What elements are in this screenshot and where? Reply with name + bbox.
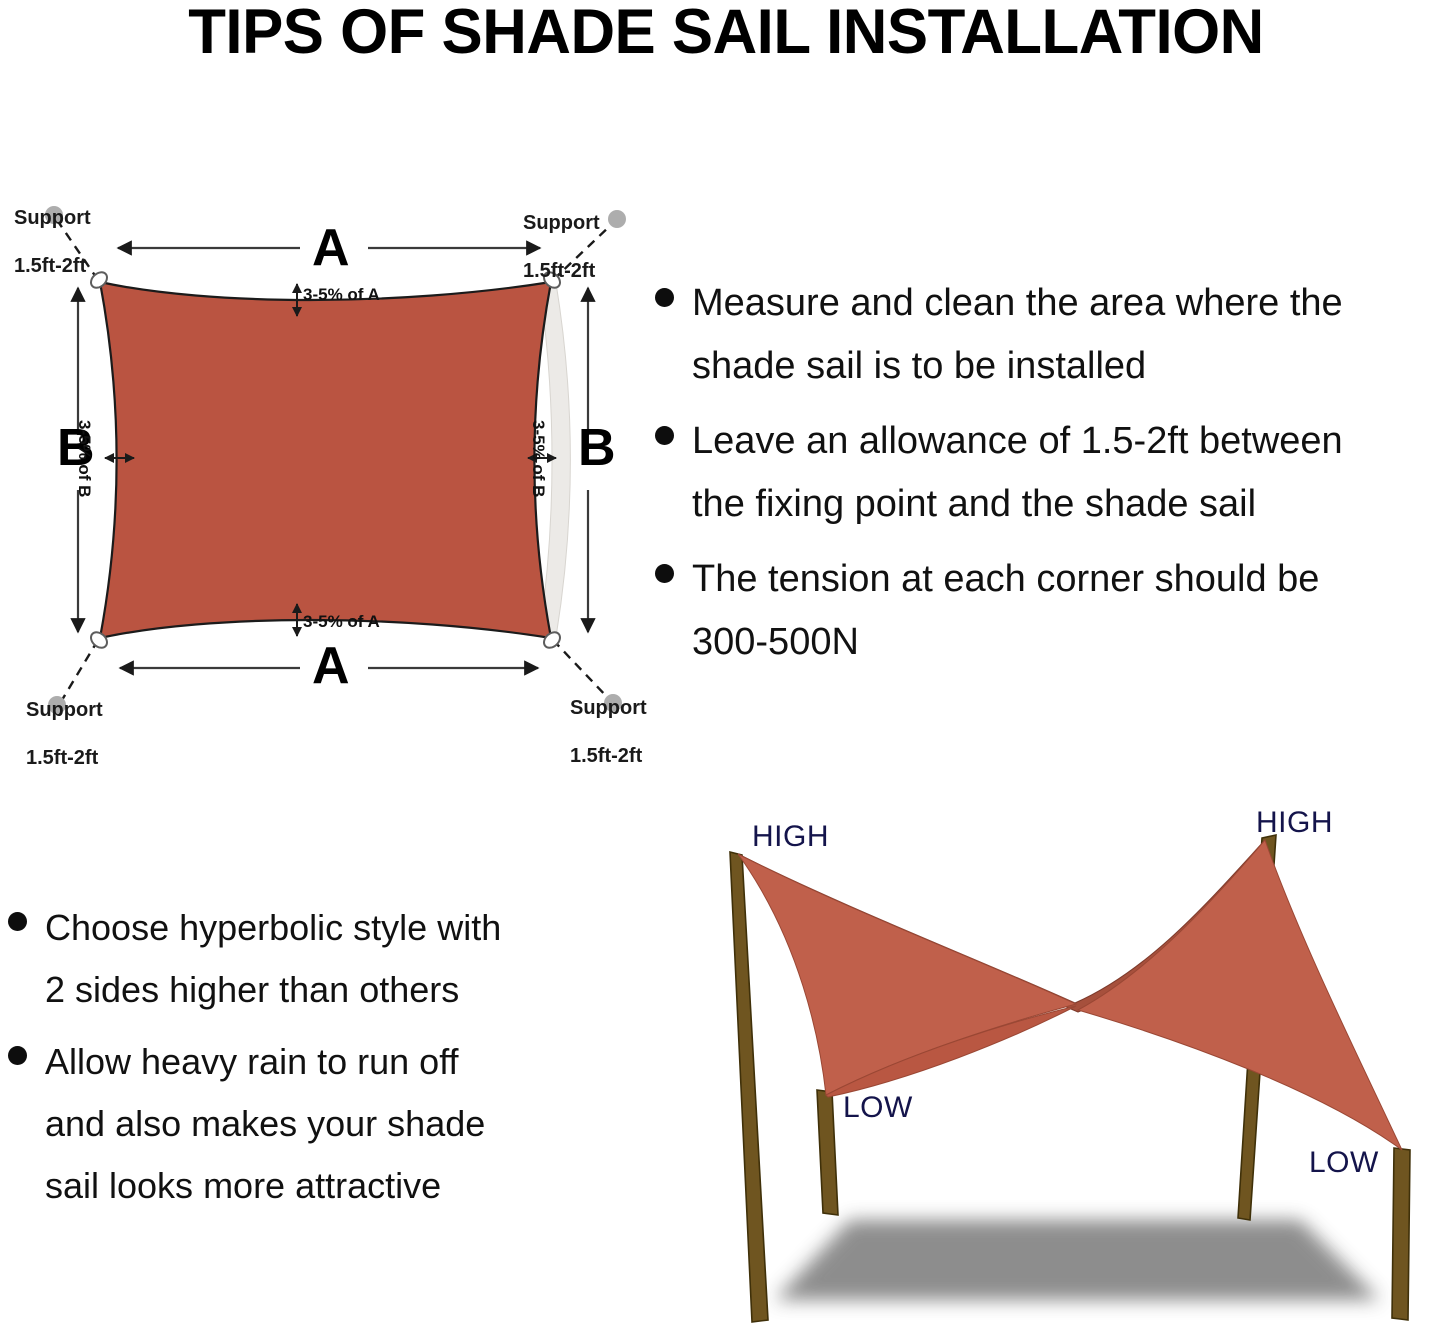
support-label-line1: Support: [14, 207, 91, 229]
post-high-left: [730, 852, 768, 1322]
support-label-line1: Support: [523, 212, 600, 234]
support-label-bottom-right: Support 1.5ft-2ft: [570, 672, 647, 768]
support-label-line1: Support: [570, 697, 647, 719]
support-label-top-left: Support 1.5ft-2ft: [14, 182, 91, 278]
curve-callout-right: 3-5% of B: [528, 420, 548, 497]
support-label-line2: 1.5ft-2ft: [14, 255, 86, 277]
hyperbolic-tips-list: Choose hyperbolic style with 2 sides hig…: [8, 897, 623, 1227]
dimension-letter-a-top: A: [312, 222, 350, 274]
curve-callout-left: 3-5% of B: [74, 420, 94, 497]
shade-sail-shape: [100, 282, 551, 638]
support-label-bottom-left: Support 1.5ft-2ft: [26, 674, 103, 770]
corner-label-high-left: HIGH: [752, 820, 829, 854]
installation-tips-list: Measure and clean the area where the sha…: [655, 272, 1452, 686]
bullet-dot-icon: [655, 288, 674, 307]
support-label-line2: 1.5ft-2ft: [523, 260, 595, 282]
bullet-dot-icon: [8, 912, 27, 931]
corner-label-high-right: HIGH: [1256, 806, 1333, 840]
list-item: Leave an allowance of 1.5-2ft between th…: [655, 410, 1452, 536]
bullet-dot-icon: [655, 426, 674, 445]
page-title: TIPS OF SHADE SAIL INSTALLATION: [15, 0, 1438, 68]
post-low-right: [1392, 1148, 1410, 1320]
bullet-dot-icon: [8, 1046, 27, 1065]
list-item: Allow heavy rain to run off and also mak…: [8, 1031, 623, 1217]
infographic-page: TIPS OF SHADE SAIL INSTALLATION: [0, 0, 1452, 1325]
dimension-letter-a-bottom: A: [312, 640, 350, 692]
curve-callout-bottom: 3-5% of A: [303, 612, 380, 632]
list-item-text: The tension at each corner should be 300…: [692, 548, 1319, 674]
sail-surface-front-right: [1078, 840, 1402, 1150]
support-label-line2: 1.5ft-2ft: [570, 745, 642, 767]
dimension-letter-b-right: B: [578, 422, 616, 474]
list-item-text: Allow heavy rain to run off and also mak…: [45, 1031, 485, 1217]
corner-label-low-right: LOW: [1309, 1146, 1379, 1180]
curve-callout-top: 3-5% of A: [303, 285, 380, 305]
list-item-text: Measure and clean the area where the sha…: [692, 272, 1343, 398]
list-item: The tension at each corner should be 300…: [655, 548, 1452, 674]
corner-label-low-left: LOW: [843, 1091, 913, 1125]
support-label-line2: 1.5ft-2ft: [26, 747, 98, 769]
list-item: Measure and clean the area where the sha…: [655, 272, 1452, 398]
support-label-top-right: Support 1.5ft-2ft: [523, 187, 600, 283]
bullet-dot-icon: [655, 564, 674, 583]
post-low-left: [817, 1090, 838, 1215]
hyperbolic-sail-diagram: [680, 790, 1452, 1325]
list-item: Choose hyperbolic style with 2 sides hig…: [8, 897, 623, 1021]
support-label-line1: Support: [26, 699, 103, 721]
ground-shadow: [775, 1220, 1380, 1300]
list-item-text: Leave an allowance of 1.5-2ft between th…: [692, 410, 1343, 536]
list-item-text: Choose hyperbolic style with 2 sides hig…: [45, 897, 501, 1021]
